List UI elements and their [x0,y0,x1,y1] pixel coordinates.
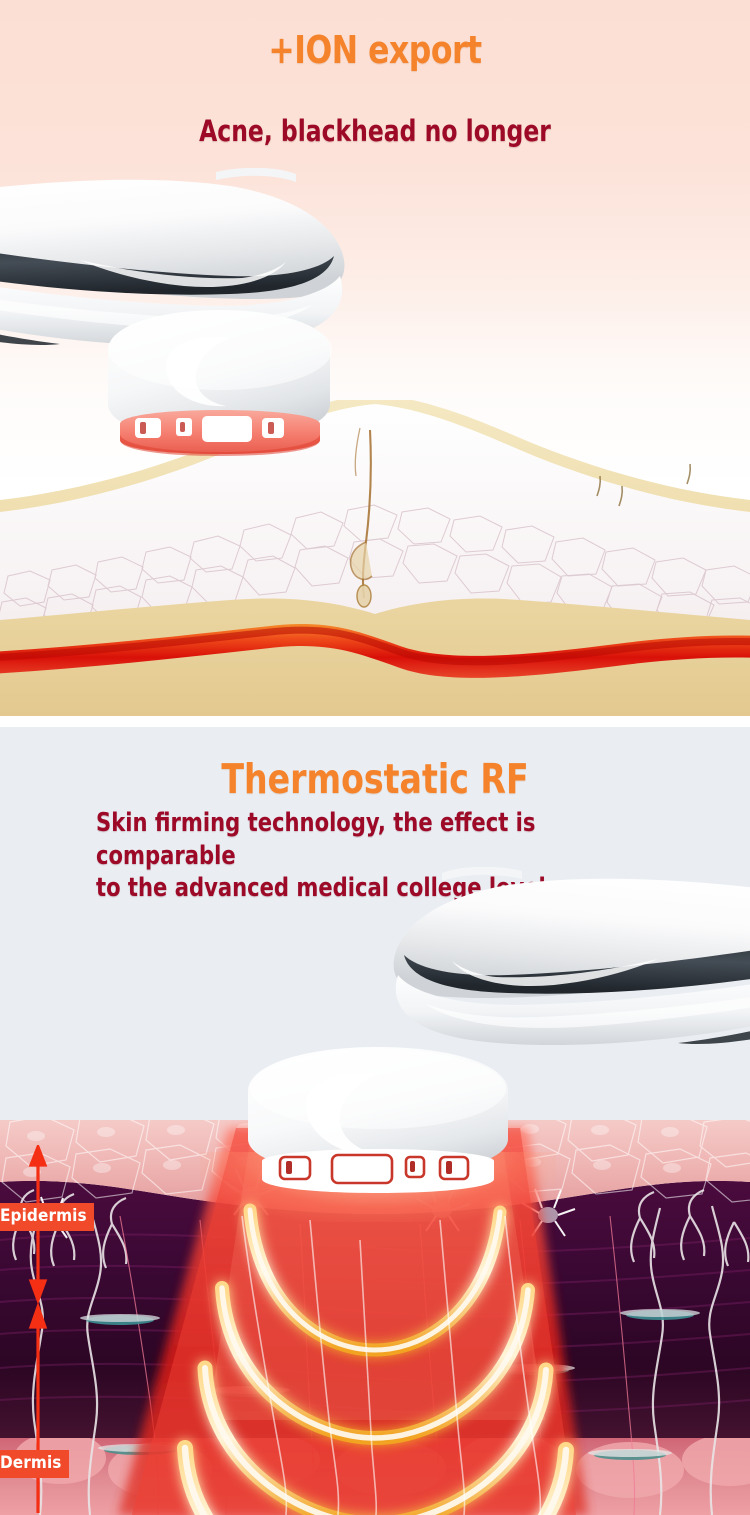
label-dermis: Dermis [0,1450,69,1478]
panel-ion-export: +ION export Acne, blackhead no longer [0,0,750,716]
label-epidermis: Epidermis [0,1203,94,1231]
rf-device2-head [228,1045,528,1215]
panel1-subtitle: Acne, blackhead no longer [38,114,713,148]
product-infographic-page: +ION export Acne, blackhead no longer [0,0,750,1515]
rf-device-panel1 [0,168,490,468]
panel1-title: +ION export [30,28,720,72]
panel2-title: Thermostatic RF [38,755,713,803]
panel-thermostatic-rf: Thermostatic RF Skin firming technology,… [0,727,750,1515]
panel-divider [0,716,750,727]
panel2-subtitle-line1: Skin firming technology, the effect is c… [96,807,648,872]
